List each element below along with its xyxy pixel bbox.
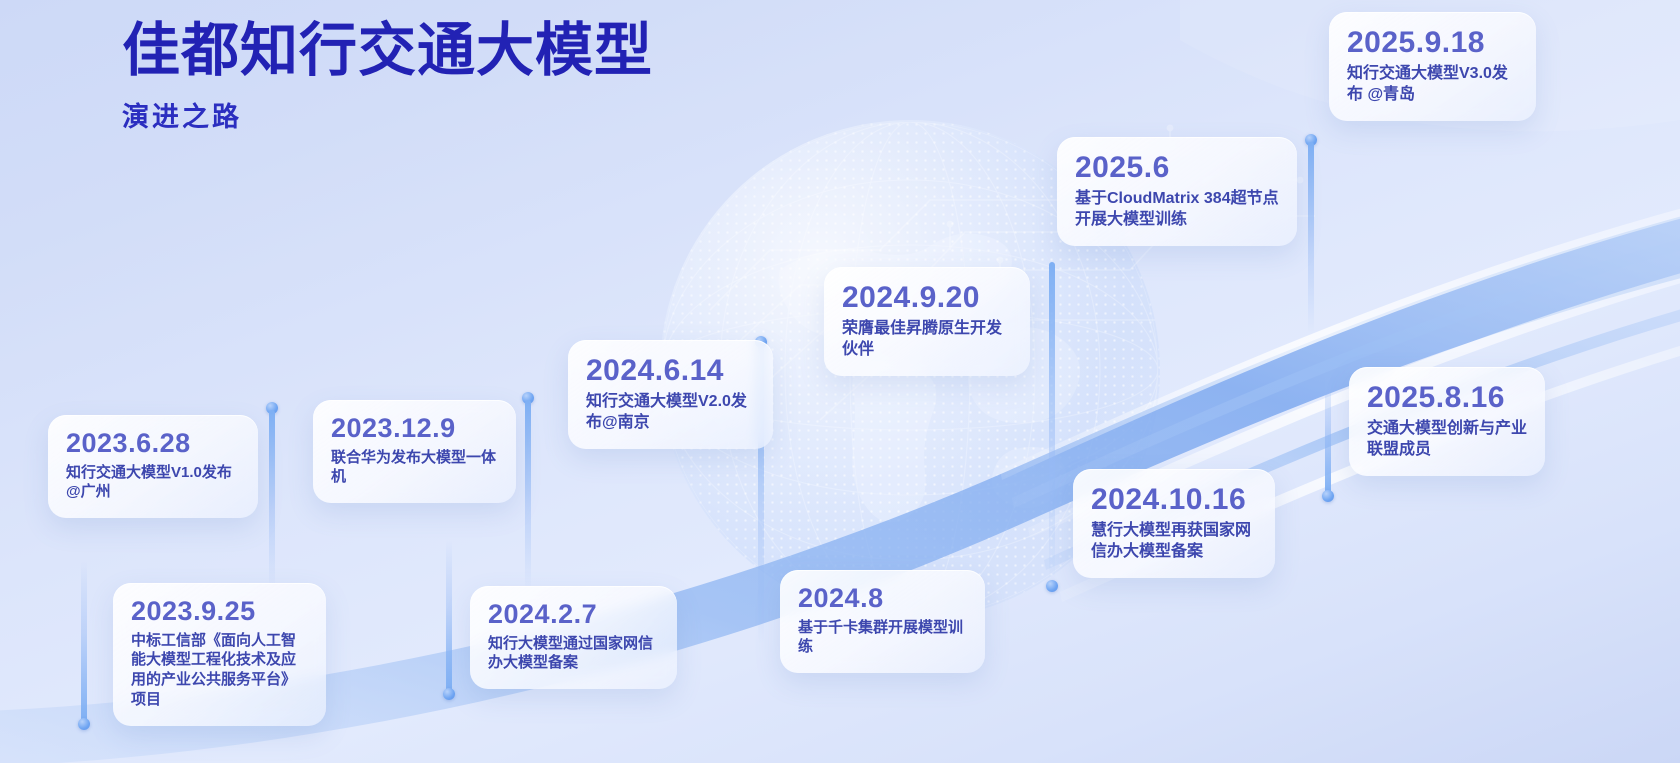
timeline-card-6[interactable]: 2024.8 基于千卡集群开展模型训练 <box>780 570 985 673</box>
milestone-desc: 知行交通大模型V2.0发布@南京 <box>586 391 755 433</box>
timeline-card-10[interactable]: 2025.8.16 交通大模型创新与产业联盟成员 <box>1349 367 1545 476</box>
milestone-desc: 基于CloudMatrix 384超节点开展大模型训练 <box>1075 188 1279 230</box>
timeline-card-7[interactable]: 2024.9.20 荣膺最佳昇腾原生开发伙伴 <box>824 267 1030 376</box>
timeline-card-2[interactable]: 2023.9.25 中标工信部《面向人工智能大模型工程化技术及应用的产业公共服务… <box>113 583 326 726</box>
header: 佳都知行交通大模型 演进之路 <box>122 20 653 134</box>
connector-pin-6 <box>1046 262 1058 592</box>
timeline-card-9[interactable]: 2025.6 基于CloudMatrix 384超节点开展大模型训练 <box>1057 137 1297 246</box>
timeline-card-4[interactable]: 2024.2.7 知行大模型通过国家网信办大模型备案 <box>470 586 677 689</box>
milestone-desc: 交通大模型创新与产业联盟成员 <box>1367 418 1527 460</box>
milestone-date: 2025.8.16 <box>1367 381 1527 414</box>
timeline-card-3[interactable]: 2023.12.9 联合华为发布大模型一体机 <box>313 400 516 503</box>
milestone-desc: 荣膺最佳昇腾原生开发伙伴 <box>842 318 1012 360</box>
timeline-card-1[interactable]: 2023.6.28 知行交通大模型V1.0发布@广州 <box>48 415 258 518</box>
milestone-date: 2025.9.18 <box>1347 26 1518 59</box>
milestone-date: 2023.6.28 <box>66 429 240 459</box>
page-subtitle: 演进之路 <box>122 95 653 134</box>
page-title: 佳都知行交通大模型 <box>122 20 653 83</box>
timeline-card-8[interactable]: 2024.10.16 慧行大模型再获国家网信办大模型备案 <box>1073 469 1275 578</box>
connector-pin-8 <box>1322 366 1334 502</box>
milestone-date: 2024.8 <box>798 584 967 614</box>
milestone-date: 2024.9.20 <box>842 281 1012 314</box>
connector-pin-1 <box>266 402 278 592</box>
milestone-desc: 知行交通大模型V3.0发布 @青岛 <box>1347 63 1518 105</box>
milestone-date: 2024.6.14 <box>586 354 755 387</box>
milestone-date: 2023.12.9 <box>331 414 498 444</box>
milestone-date: 2024.10.16 <box>1091 483 1257 516</box>
milestone-desc: 知行大模型通过国家网信办大模型备案 <box>488 634 659 674</box>
milestone-desc: 慧行大模型再获国家网信办大模型备案 <box>1091 520 1257 562</box>
connector-pin-7 <box>1305 134 1317 334</box>
connector-pin-3 <box>522 392 534 592</box>
infographic-canvas: 佳都知行交通大模型 演进之路 2023.6.28 知行交通大模型V1.0发布@广… <box>0 0 1680 763</box>
milestone-date: 2024.2.7 <box>488 600 659 630</box>
connector-pin-2 <box>78 560 90 730</box>
milestone-desc: 联合华为发布大模型一体机 <box>331 448 498 488</box>
milestone-date: 2025.6 <box>1075 151 1279 184</box>
timeline-card-5[interactable]: 2024.6.14 知行交通大模型V2.0发布@南京 <box>568 340 773 449</box>
milestone-date: 2023.9.25 <box>131 597 308 627</box>
connector-pin-4 <box>443 540 455 700</box>
milestone-desc: 基于千卡集群开展模型训练 <box>798 618 967 658</box>
milestone-desc: 知行交通大模型V1.0发布@广州 <box>66 463 240 503</box>
timeline-card-11[interactable]: 2025.9.18 知行交通大模型V3.0发布 @青岛 <box>1329 12 1536 121</box>
milestone-desc: 中标工信部《面向人工智能大模型工程化技术及应用的产业公共服务平台》项目 <box>131 631 308 710</box>
